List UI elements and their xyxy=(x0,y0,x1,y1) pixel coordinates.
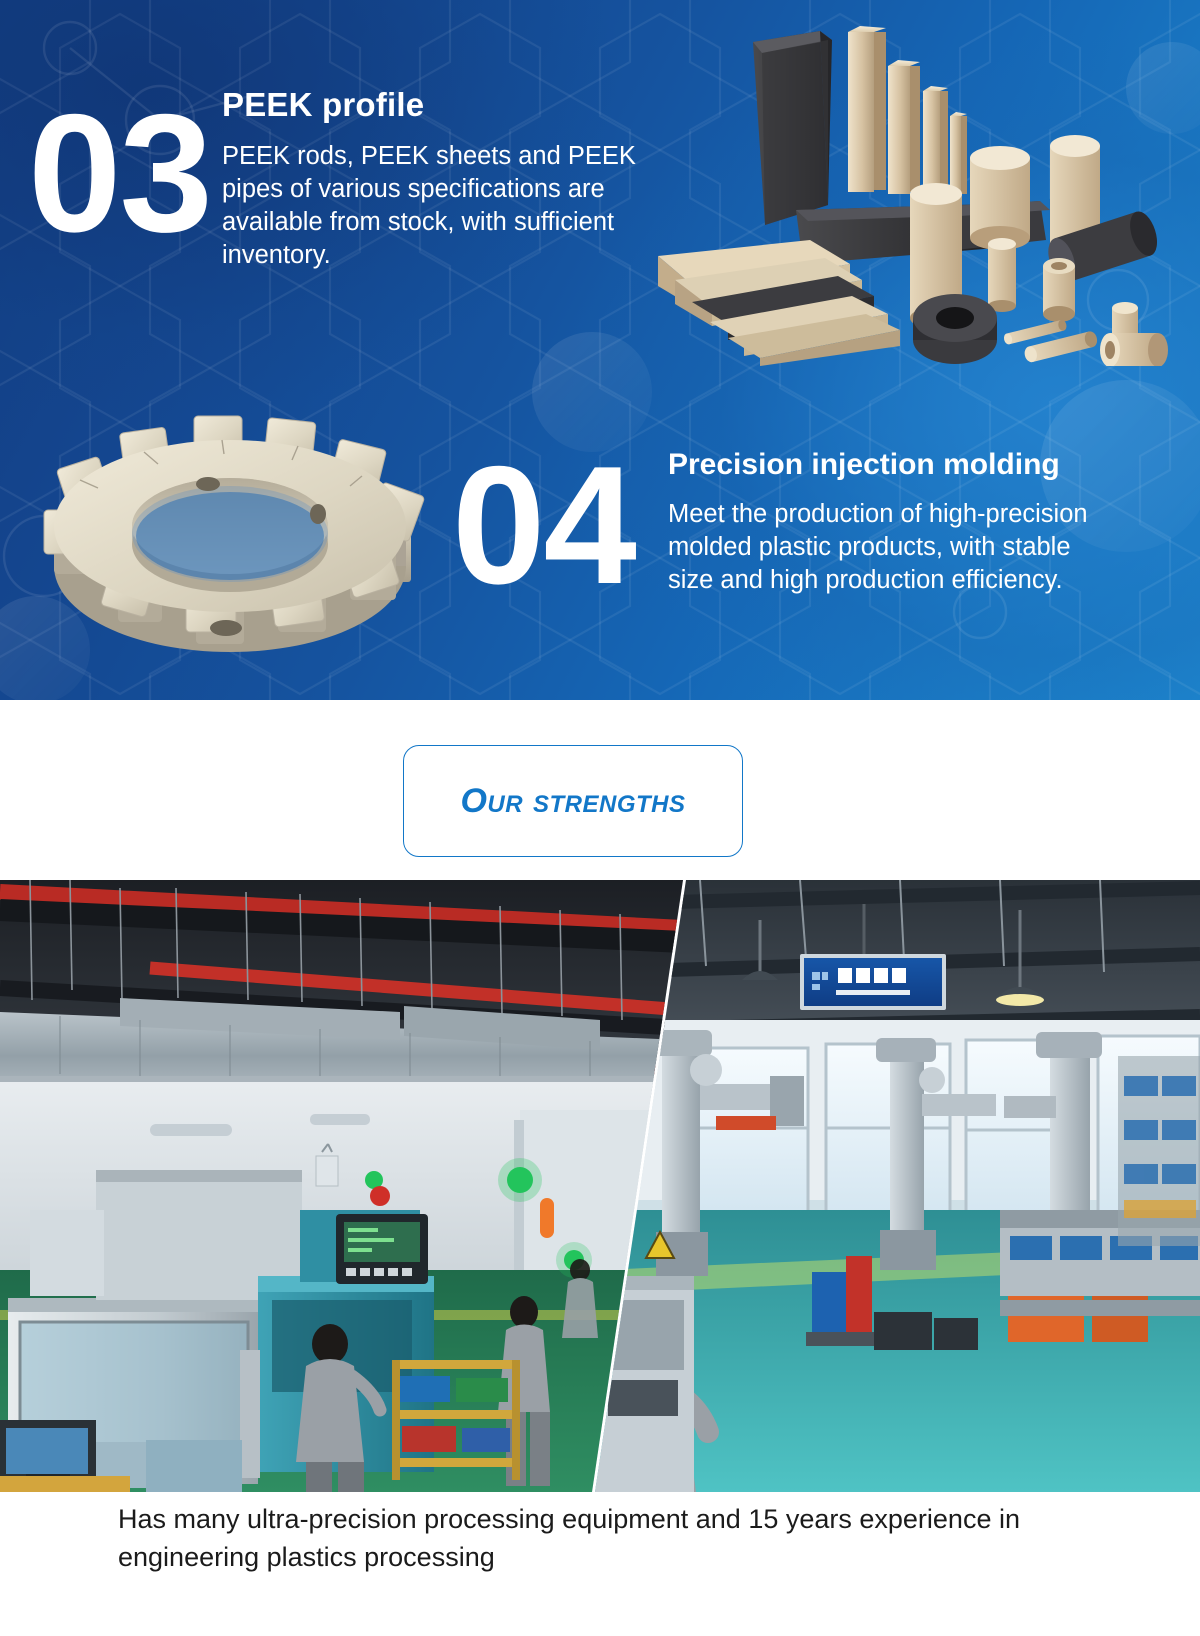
item-body-03: PEEK rods, PEEK sheets and PEEK pipes of… xyxy=(222,140,662,273)
our-strengths-label: Our strengths xyxy=(460,782,685,821)
hero-section: 03 PEEK profile PEEK rods, PEEK sheets a… xyxy=(0,0,1200,700)
peek-profile-products-photo xyxy=(620,18,1186,366)
hero-item-04: 04 Precision injection molding Meet the … xyxy=(0,430,1200,670)
factory-photo-gallery xyxy=(0,880,1200,1492)
item-number-04: 04 xyxy=(452,448,635,603)
hero-item-03: 03 PEEK profile PEEK rods, PEEK sheets a… xyxy=(0,58,660,338)
cnc-machining-workshop-photo xyxy=(0,880,683,1492)
item-title-04: Precision injection molding xyxy=(668,448,1060,482)
gallery-caption: Has many ultra-precision processing equi… xyxy=(0,1500,1200,1577)
our-strengths-badge: Our strengths xyxy=(403,745,743,857)
item-number-03: 03 xyxy=(28,96,211,251)
item-title-03: PEEK profile xyxy=(222,86,424,124)
item-body-04: Meet the production of high-precision mo… xyxy=(668,498,1108,597)
